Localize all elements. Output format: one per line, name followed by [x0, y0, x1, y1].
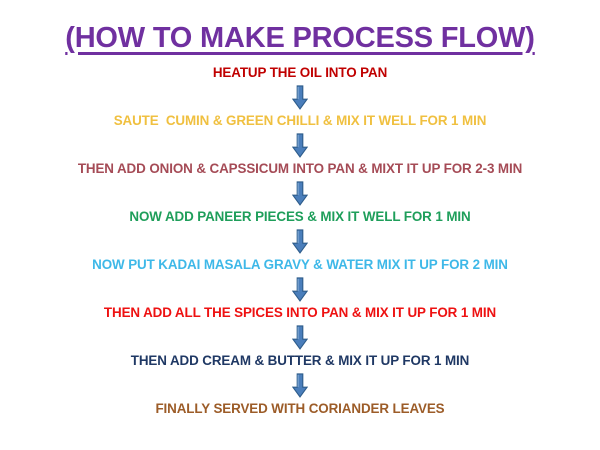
flow-step: FINALLY SERVED WITH CORIANDER LEAVES [155, 400, 444, 418]
flow-step: THEN ADD ONION & CAPSSICUM INTO PAN & MI… [78, 160, 522, 178]
flow-step: THEN ADD ALL THE SPICES INTO PAN & MIX I… [104, 304, 496, 322]
flow-step: NOW ADD PANEER PIECES & MIX IT WELL FOR … [129, 208, 470, 226]
flow-connector [292, 130, 308, 160]
arrow-down-icon [292, 277, 308, 302]
arrow-down-icon [292, 229, 308, 254]
page-title: (HOW TO MAKE PROCESS FLOW) [65, 22, 535, 55]
flow-connector [292, 370, 308, 400]
process-flow-diagram: (HOW TO MAKE PROCESS FLOW) HEATUP THE OI… [0, 0, 600, 450]
flow-step-list: HEATUP THE OIL INTO PANSAUTE CUMIN & GRE… [0, 64, 600, 418]
flow-step: THEN ADD CREAM & BUTTER & MIX IT UP FOR … [131, 352, 469, 370]
flow-connector [292, 178, 308, 208]
arrow-down-icon [292, 133, 308, 158]
flow-connector [292, 274, 308, 304]
arrow-down-icon [292, 85, 308, 110]
flow-connector [292, 82, 308, 112]
flow-step: SAUTE CUMIN & GREEN CHILLI & MIX IT WELL… [114, 112, 487, 130]
arrow-down-icon [292, 325, 308, 350]
flow-step: HEATUP THE OIL INTO PAN [213, 64, 387, 82]
flow-connector [292, 322, 308, 352]
arrow-down-icon [292, 181, 308, 206]
arrow-down-icon [292, 373, 308, 398]
flow-connector [292, 226, 308, 256]
flow-step: NOW PUT KADAI MASALA GRAVY & WATER MIX I… [92, 256, 508, 274]
